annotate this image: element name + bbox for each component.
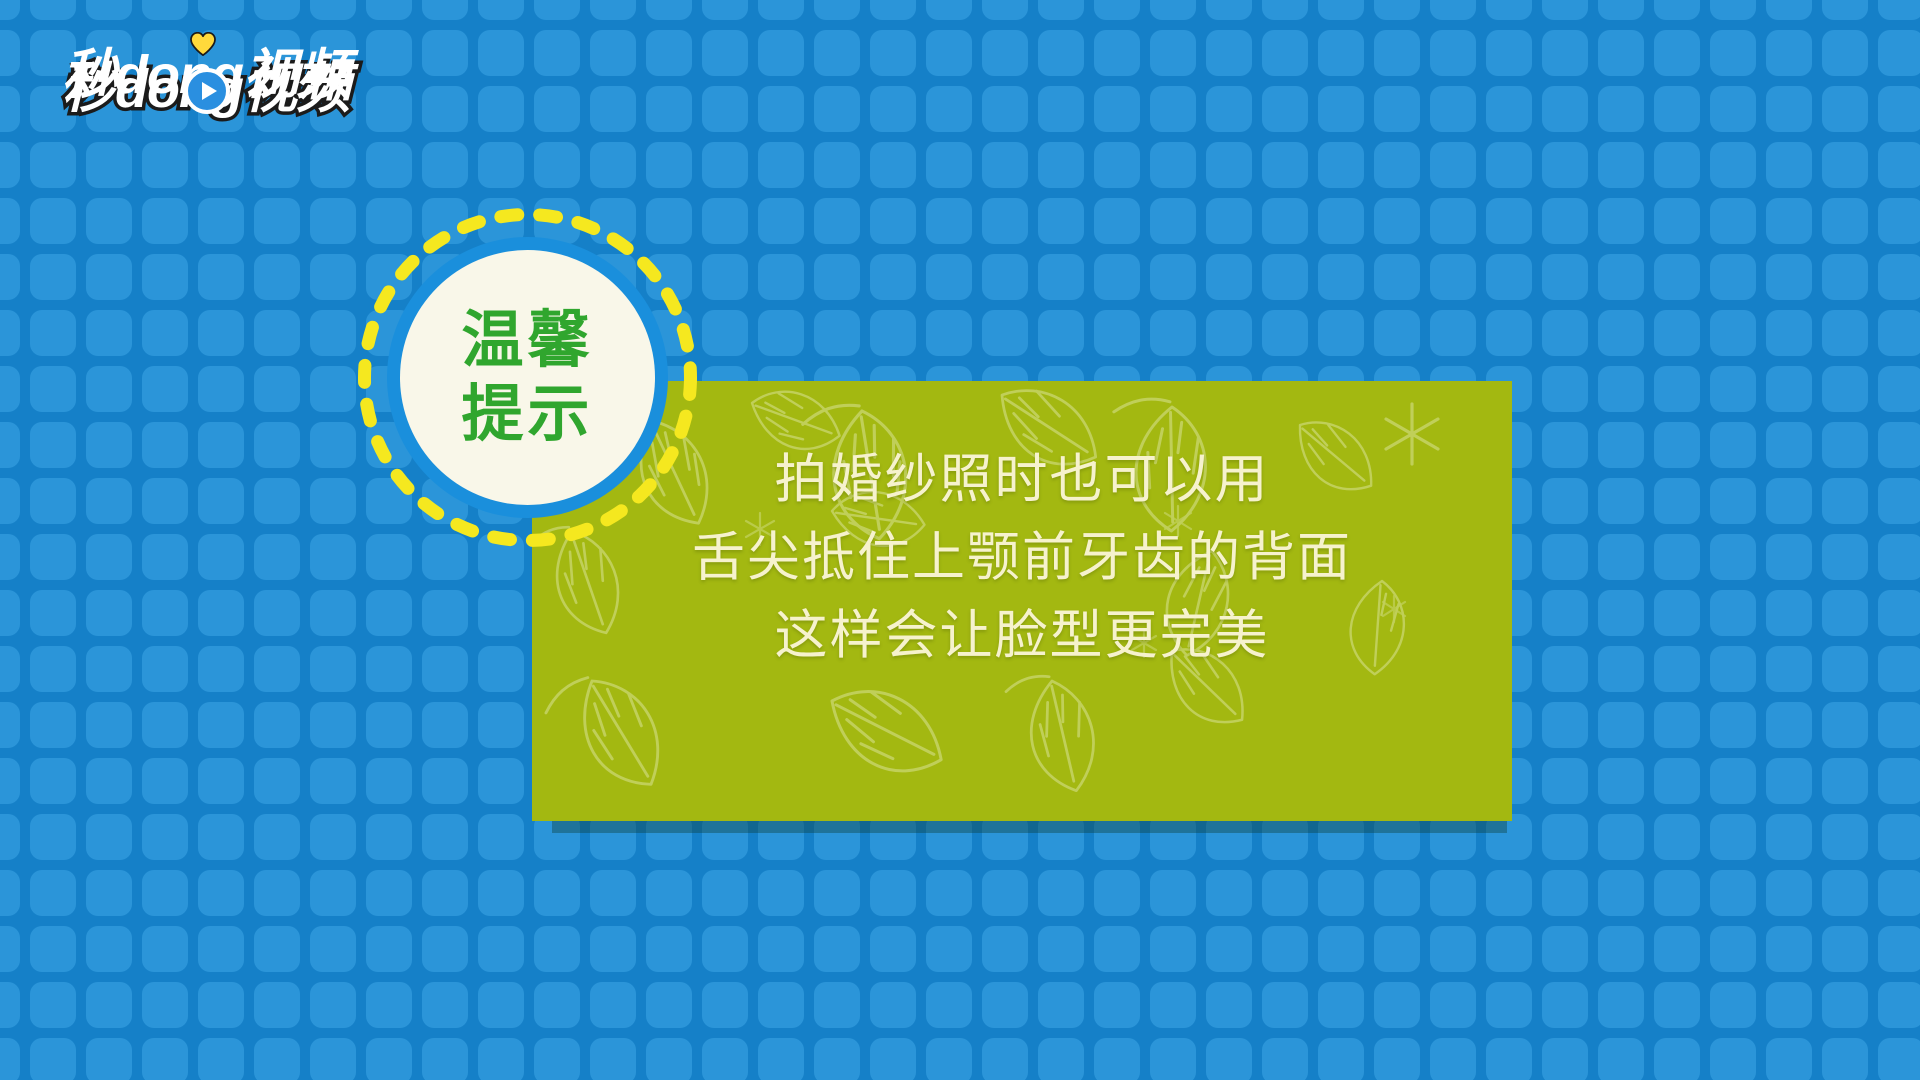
leaf-icon: [536, 671, 672, 786]
tip-line-3: 这样会让脸型更完美: [532, 597, 1512, 675]
play-icon: [184, 68, 230, 114]
watermark-logo: 秒dong视频 秒dong视频: [62, 48, 349, 116]
badge-line-2: 提示: [461, 378, 593, 452]
leaf-icon: [980, 662, 1120, 793]
video-frame: 秒dong视频 秒dong视频: [0, 0, 1920, 1080]
heart-icon: [190, 32, 216, 56]
badge-line-1: 温馨: [461, 304, 593, 378]
leaf-icon: [830, 671, 943, 789]
tip-badge: 温馨 提示: [355, 205, 700, 550]
badge-inner: 温馨 提示: [400, 250, 655, 505]
